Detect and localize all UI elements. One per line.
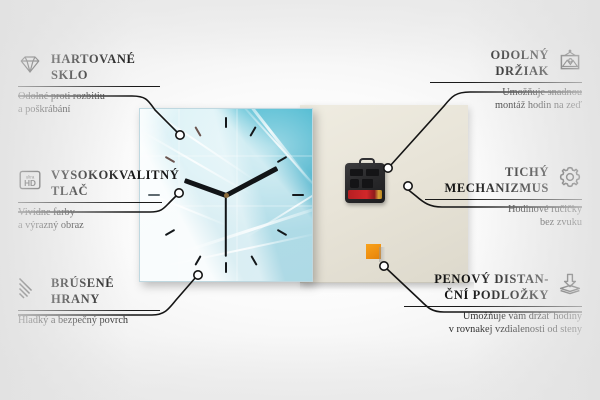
connector-dot-drziak: [384, 164, 392, 172]
ultra-hd-badge-icon: ultra HD: [18, 168, 42, 192]
feature-header: HARTOVANÉ SKLO: [18, 52, 168, 83]
feature-tichy-mechanizmus: TICHÝ MECHANIZMUS Hodinové ručičky bez z…: [417, 165, 582, 229]
feature-title-line: HRANY: [51, 292, 114, 308]
feature-title-line: ČNÍ PODLOŽKY: [434, 288, 549, 304]
feature-subtitle-line: Vivídne farby: [18, 207, 170, 219]
feature-divider: [404, 306, 582, 307]
feature-subtitle: Hodinové ručičky bez zvuku: [417, 204, 582, 229]
connector-dot-hartovane: [176, 131, 184, 139]
feature-subtitle: Umožňuje vám držať hodiny v rovnakej vzd…: [396, 311, 582, 336]
feature-divider: [18, 202, 162, 203]
feature-subtitle-line: bez zvuku: [417, 217, 582, 229]
feature-subtitle-line: Odolné proti rozbitiu: [18, 91, 168, 103]
feature-title: ODOLNÝ DRŽIAK: [491, 48, 549, 79]
feature-title: TICHÝ MECHANIZMUS: [444, 165, 549, 196]
connector-dot-hrany: [194, 271, 202, 279]
wall-mount-picture-icon: [558, 48, 582, 72]
feature-subtitle: Umožňuje snadnou montáž hodin na zeď: [422, 87, 582, 112]
feature-subtitle-line: Umožňuje snadnou: [422, 87, 582, 99]
feature-odolny-drziak: ODOLNÝ DRŽIAK Umožňuje snadnou montáž ho…: [422, 48, 582, 112]
hd-label: HD: [24, 179, 36, 188]
feature-title-line: TLAČ: [51, 184, 179, 200]
gear-icon: [558, 165, 582, 189]
feature-subtitle-line: a výrazný obraz: [18, 220, 170, 232]
feature-title: HARTOVANÉ SKLO: [51, 52, 135, 83]
feature-title-line: TICHÝ: [444, 165, 549, 181]
feature-title-line: DRŽIAK: [491, 64, 549, 80]
feature-title-line: PENOVÝ DISTAN-: [434, 272, 549, 288]
feature-subtitle-line: Hladký a bezpečný povrch: [18, 315, 168, 327]
feature-title-line: VYSOKOKVALITNÝ: [51, 168, 179, 184]
feature-header: TICHÝ MECHANIZMUS: [417, 165, 582, 196]
feature-title-line: SKLO: [51, 68, 135, 84]
connector-dot-mechanizmus: [404, 182, 412, 190]
feature-title-line: MECHANIZMUS: [444, 181, 549, 197]
feature-header: BRÚSENÉ HRANY: [18, 276, 168, 307]
feature-divider: [18, 310, 160, 311]
feature-subtitle: Odolné proti rozbitiu a poškrábání: [18, 91, 168, 116]
feature-title: VYSOKOKVALITNÝ TLAČ: [51, 168, 179, 199]
feature-penove-podlozky: PENOVÝ DISTAN- ČNÍ PODLOŽKY Umožňuje vám…: [396, 272, 582, 336]
feature-vysokokvalitny-tlac: ultra HD VYSOKOKVALITNÝ TLAČ Vivídne far…: [18, 168, 170, 232]
beveled-edge-icon: [18, 276, 42, 300]
feature-subtitle-line: v rovnakej vzdialenosti od steny: [396, 324, 582, 336]
feature-header: ultra HD VYSOKOKVALITNÝ TLAČ: [18, 168, 170, 199]
feature-subtitle-line: Hodinové ručičky: [417, 204, 582, 216]
diamond-icon: [18, 52, 42, 76]
feature-title: BRÚSENÉ HRANY: [51, 276, 114, 307]
feature-subtitle: Vivídne farby a výrazný obraz: [18, 207, 170, 232]
feature-subtitle-line: Umožňuje vám držať hodiny: [396, 311, 582, 323]
feature-title-line: HARTOVANÉ: [51, 52, 135, 68]
foam-spacer-icon: [558, 272, 582, 296]
connector-dot-podlozky: [380, 262, 388, 270]
feature-subtitle-line: montáž hodin na zeď: [422, 100, 582, 112]
feature-divider: [430, 82, 582, 83]
feature-hartovane-sklo: HARTOVANÉ SKLO Odolné proti rozbitiu a p…: [18, 52, 168, 116]
infographic-canvas: HARTOVANÉ SKLO Odolné proti rozbitiu a p…: [0, 0, 600, 400]
feature-title: PENOVÝ DISTAN- ČNÍ PODLOŽKY: [434, 272, 549, 303]
feature-divider: [425, 199, 582, 200]
feature-header: ODOLNÝ DRŽIAK: [422, 48, 582, 79]
feature-subtitle: Hladký a bezpečný povrch: [18, 315, 168, 327]
feature-title-line: BRÚSENÉ: [51, 276, 114, 292]
feature-divider: [18, 86, 160, 87]
feature-header: PENOVÝ DISTAN- ČNÍ PODLOŽKY: [396, 272, 582, 303]
feature-subtitle-line: a poškrábání: [18, 104, 168, 116]
feature-title-line: ODOLNÝ: [491, 48, 549, 64]
feature-brusene-hrany: BRÚSENÉ HRANY Hladký a bezpečný povrch: [18, 276, 168, 328]
